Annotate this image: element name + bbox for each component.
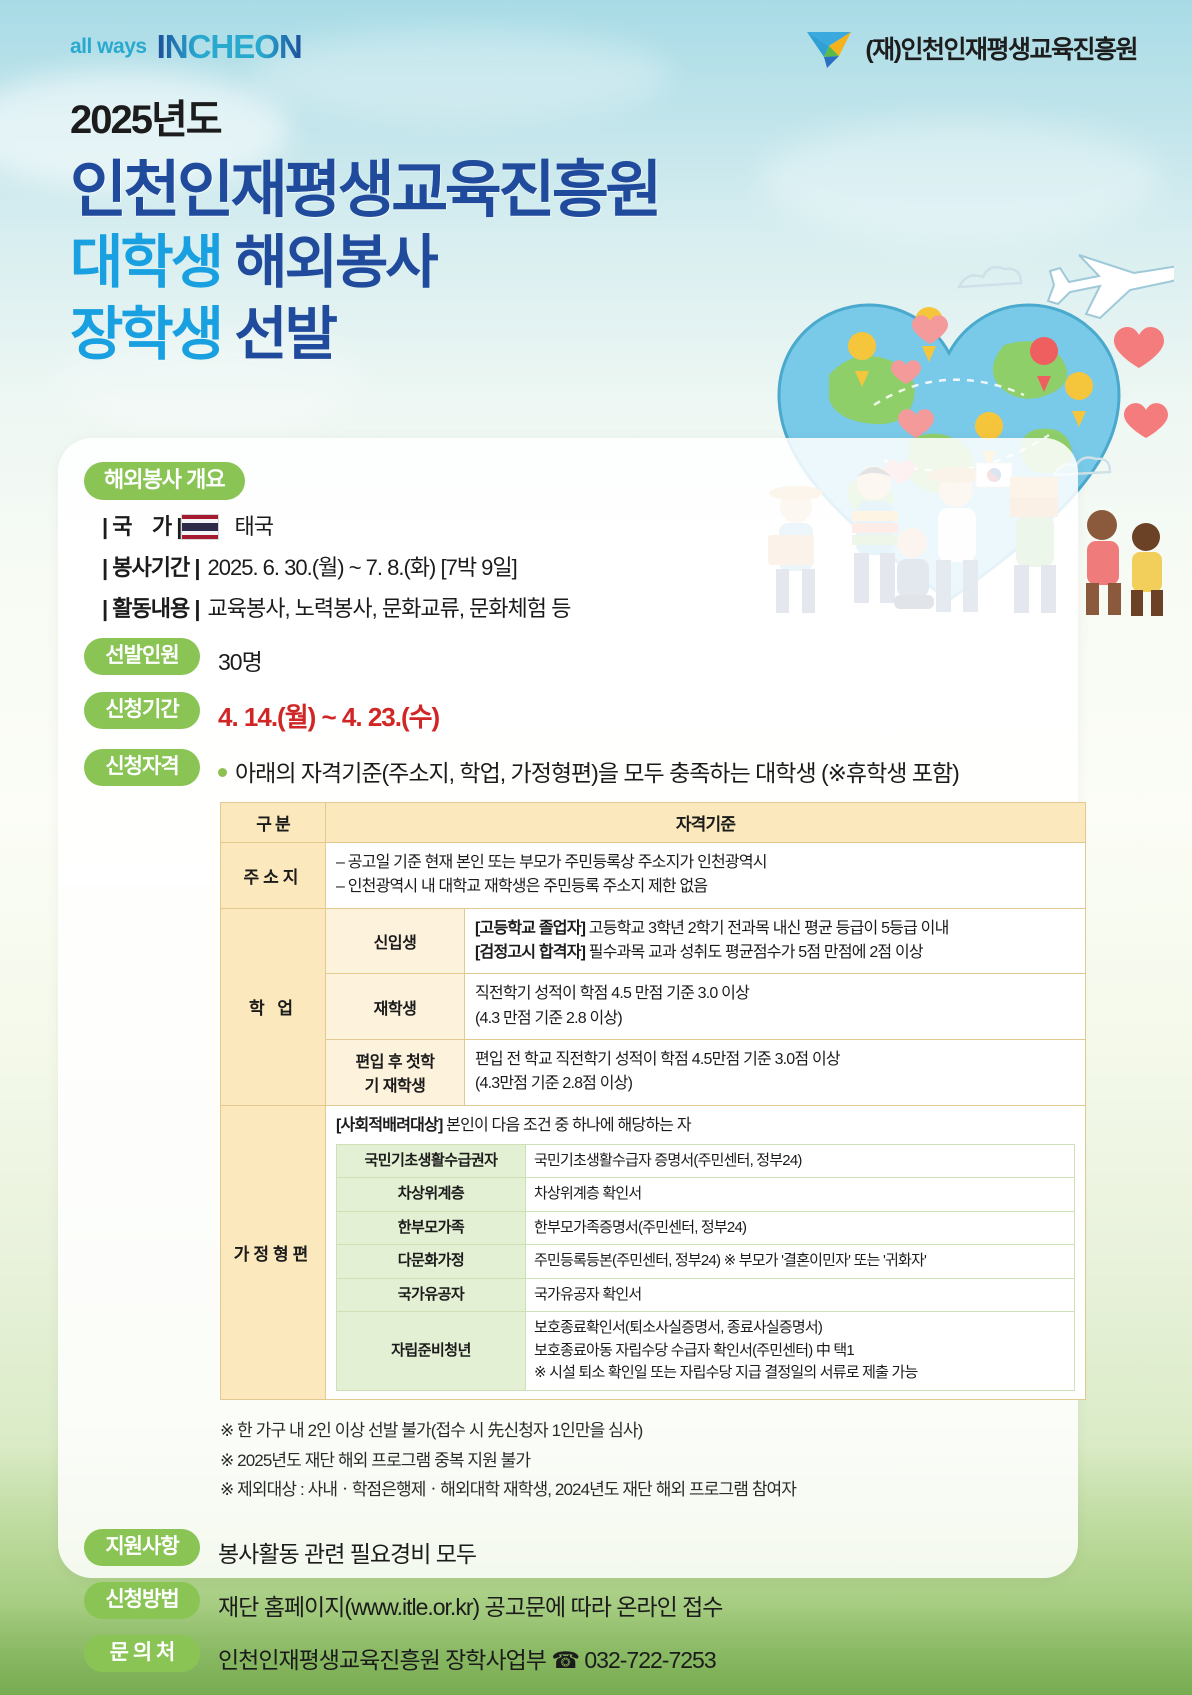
family-heading-bold: [사회적배려대상]: [336, 1117, 443, 1134]
cell-category-academics: 학 업: [221, 908, 326, 1105]
family-row-veteran: 국가유공자 국가유공자 확인서: [337, 1278, 1075, 1312]
family-subtable: 국민기초생활수급권자 국민기초생활수급자 증명서(주민센터, 정부24) 차상위…: [336, 1144, 1075, 1391]
triangle-arrow-logo-icon: [805, 26, 853, 70]
thailand-flag-icon: [181, 514, 219, 540]
overview-row-country: | 국 가 | 태국: [102, 509, 1084, 541]
table-row-academics-freshman: 학 업 신입생 [고등학교 졸업자] 고등학교 3학년 2학기 전과목 내신 평…: [221, 908, 1086, 974]
th-criteria: 자격기준: [326, 803, 1086, 843]
overview-value-period: 2025. 6. 30.(월) ~ 7. 8.(화) [7박 9일]: [208, 550, 517, 582]
cell-transfer-body: 편입 전 학교 직전학기 성적이 학점 4.5만점 기준 3.0점 이상 (4.…: [465, 1039, 1086, 1105]
cell-freshman-body: [고등학교 졸업자] 고등학교 3학년 2학기 전과목 내신 평균 등급이 5등…: [465, 908, 1086, 974]
selection-count-row: 선발인원 30명: [84, 638, 1084, 677]
qualification-table: 구 분 자격기준 주소지 – 공고일 기준 현재 본인 또는 부모가 주민등록상…: [220, 802, 1086, 1400]
overview-value-activity: 교육봉사, 노력봉사, 문화교류, 문화체험 등: [208, 591, 571, 623]
family-value-near-poverty: 차상위계층 확인서: [526, 1178, 1075, 1212]
overview-label-period: | 봉사기간 |: [102, 550, 200, 582]
apply-period-value: 4. 14.(월) ~ 4. 23.(수): [218, 692, 439, 734]
foundation-name: (재)인천인재평생교육진흥원: [865, 30, 1137, 66]
selection-count-value: 30명: [218, 638, 262, 677]
overview-value-country: 태국: [234, 509, 272, 541]
how-to-apply-row: 신청방법 재단 홈페이지(www.itle.or.kr) 공고문에 따라 온라인…: [84, 1582, 1084, 1622]
table-row-address: 주소지 – 공고일 기준 현재 본인 또는 부모가 주민등록상 주소지가 인천광…: [221, 843, 1086, 909]
cloud-decoration: [760, 120, 1160, 240]
support-pill: 지원사항: [84, 1529, 200, 1566]
cell-family-body: [사회적배려대상] 본인이 다음 조건 중 하나에 해당하는 자 국민기초생활수…: [326, 1105, 1086, 1399]
how-to-apply-value: 재단 홈페이지(www.itle.or.kr) 공고문에 따라 온라인 접수: [218, 1582, 722, 1622]
th-category: 구 분: [221, 803, 326, 843]
family-value-independent-youth: 보호종료확인서(퇴소사실증명서, 종료사실증명서) 보호종료아동 자립수당 수급…: [526, 1312, 1075, 1391]
family-label-veteran: 국가유공자: [337, 1278, 526, 1312]
cell-sub-freshman: 신입생: [326, 908, 465, 974]
note-1: ※ 한 가구 내 2인 이상 선발 불가(접수 시 先신청자 1인만을 심사): [220, 1416, 1084, 1446]
family-label-single-parent: 한부모가족: [337, 1211, 526, 1245]
family-value-single-parent: 한부모가족증명서(주민센터, 정부24): [526, 1211, 1075, 1245]
family-value-basic-living: 국민기초생활수급자 증명서(주민센터, 정부24): [526, 1144, 1075, 1178]
title-main-line3: 장학생 선발: [70, 301, 659, 369]
support-value: 봉사활동 관련 필요경비 모두: [218, 1529, 476, 1569]
how-to-apply-pill: 신청방법: [84, 1582, 200, 1619]
overview-section: 해외봉사 개요 | 국 가 | 태국 | 봉사기간 | 2025. 6. 30.…: [84, 462, 1084, 623]
family-label-independent-youth: 자립준비청년: [337, 1312, 526, 1391]
overview-row-activity: | 활동내용 | 교육봉사, 노력봉사, 문화교류, 문화체험 등: [102, 591, 1084, 623]
family-label-multicultural: 다문화가정: [337, 1245, 526, 1279]
eligibility-intro: 아래의 자격기준(주소지, 학업, 가정형편)을 모두 충족하는 대학생 (※휴…: [235, 760, 959, 786]
address-line-1: – 공고일 기준 현재 본인 또는 부모가 주민등록상 주소지가 인천광역시: [336, 851, 1075, 875]
footer-section: 지원사항 봉사활동 관련 필요경비 모두 신청방법 재단 홈페이지(www.it…: [84, 1529, 1084, 1675]
freshman-line-2-rest: 필수과목 교과 성취도 평균점수가 5점 만점에 2점 이상: [585, 944, 923, 961]
family-row-near-poverty: 차상위계층 차상위계층 확인서: [337, 1178, 1075, 1212]
family-heading-rest: 본인이 다음 조건 중 하나에 해당하는 자: [443, 1117, 691, 1134]
title-line2-light: 대학생: [70, 230, 221, 295]
transfer-line-1: 편입 전 학교 직전학기 성적이 학점 4.5만점 기준 3.0점 이상: [475, 1048, 1075, 1072]
eligibility-pill: 신청자격: [84, 749, 200, 786]
note-3: ※ 제외대상 : 사내ㆍ학점은행제ㆍ해외대학 재학생, 2024년도 재단 해외…: [220, 1475, 1084, 1505]
cell-enrolled-body: 직전학기 성적이 학점 4.5 만점 기준 3.0 이상 (4.3 만점 기준 …: [465, 974, 1086, 1040]
apply-period-pill: 신청기간: [84, 692, 200, 729]
title-main-line2: 대학생 해외봉사: [70, 229, 659, 297]
poster-title: 2025년도 인천인재평생교육진흥원 대학생 해외봉사 장학생 선발: [70, 100, 659, 370]
contact-pill: 문 의 처: [84, 1635, 200, 1672]
cell-sub-enrolled: 재학생: [326, 974, 465, 1040]
title-line3-light: 장학생: [70, 302, 221, 367]
title-line2-dark: 해외봉사: [234, 230, 435, 295]
contact-row: 문 의 처 인천인재평생교육진흥원 장학사업부 ☎ 032-722-7253: [84, 1635, 1084, 1675]
contact-value: 인천인재평생교육진흥원 장학사업부 ☎ 032-722-7253: [218, 1635, 716, 1675]
freshman-line-1-bold: [고등학교 졸업자]: [475, 920, 585, 937]
note-2: ※ 2025년도 재단 해외 프로그램 중복 지원 불가: [220, 1446, 1084, 1476]
logo-wordmark: INCHEON: [157, 28, 302, 66]
family-row-multicultural: 다문화가정 주민등록등본(주민센터, 정부24) ※ 부모가 '결혼이민자' 또…: [337, 1245, 1075, 1279]
cell-address-body: – 공고일 기준 현재 본인 또는 부모가 주민등록상 주소지가 인천광역시 –…: [326, 843, 1086, 909]
transfer-line-2: (4.3만점 기준 2.8점 이상): [475, 1072, 1075, 1096]
incheon-city-logo: all ways INCHEON: [70, 28, 302, 66]
family-row-single-parent: 한부모가족 한부모가족증명서(주민센터, 정부24): [337, 1211, 1075, 1245]
title-year: 2025년도: [70, 100, 659, 140]
table-row-family: 가정형편 [사회적배려대상] 본인이 다음 조건 중 하나에 해당하는 자 국민…: [221, 1105, 1086, 1399]
family-heading: [사회적배려대상] 본인이 다음 조건 중 하나에 해당하는 자: [336, 1114, 1075, 1138]
enrolled-line-1: 직전학기 성적이 학점 4.5 만점 기준 3.0 이상: [475, 982, 1075, 1006]
cell-category-family: 가정형편: [221, 1105, 326, 1399]
family-value-multicultural: 주민등록등본(주민센터, 정부24) ※ 부모가 '결혼이민자' 또는 '귀화자…: [526, 1245, 1075, 1279]
bullet-icon: [218, 768, 227, 777]
address-line-2: – 인천광역시 내 대학교 재학생은 주민등록 주소지 제한 없음: [336, 875, 1075, 899]
freshman-line-2: [검정고시 합격자] 필수과목 교과 성취도 평균점수가 5점 만점에 2점 이…: [475, 941, 1075, 965]
poster-content: 해외봉사 개요 | 국 가 | 태국 | 봉사기간 | 2025. 6. 30.…: [84, 462, 1084, 1675]
overview-label-activity: | 활동내용 |: [102, 591, 200, 623]
family-row-basic-living: 국민기초생활수급권자 국민기초생활수급자 증명서(주민센터, 정부24): [337, 1144, 1075, 1178]
family-row-independent-youth: 자립준비청년 보호종료확인서(퇴소사실증명서, 종료사실증명서) 보호종료아동 …: [337, 1312, 1075, 1391]
table-header-row: 구 분 자격기준: [221, 803, 1086, 843]
title-organization: 인천인재평생교육진흥원: [70, 158, 659, 225]
poster-header: all ways INCHEON (재)인천인재평생교육진흥원: [0, 0, 1192, 90]
freshman-line-1: [고등학교 졸업자] 고등학교 3학년 2학기 전과목 내신 평균 등급이 5등…: [475, 917, 1075, 941]
cell-sub-transfer: 편입 후 첫학 기 재학생: [326, 1039, 465, 1105]
overview-row-period: | 봉사기간 | 2025. 6. 30.(월) ~ 7. 8.(화) [7박 …: [102, 550, 1084, 582]
enrolled-line-2: (4.3 만점 기준 2.8 이상): [475, 1007, 1075, 1031]
support-row: 지원사항 봉사활동 관련 필요경비 모두: [84, 1529, 1084, 1569]
cell-category-address: 주소지: [221, 843, 326, 909]
table-row-academics-transfer: 편입 후 첫학 기 재학생 편입 전 학교 직전학기 성적이 학점 4.5만점 …: [221, 1039, 1086, 1105]
overview-pill: 해외봉사 개요: [84, 462, 245, 500]
selection-count-pill: 선발인원: [84, 638, 200, 675]
freshman-line-2-bold: [검정고시 합격자]: [475, 944, 585, 961]
freshman-line-1-rest: 고등학교 3학년 2학기 전과목 내신 평균 등급이 5등급 이내: [585, 920, 948, 937]
overview-label-country: | 국 가 |: [102, 509, 181, 541]
family-value-veteran: 국가유공자 확인서: [526, 1278, 1075, 1312]
eligibility-row: 신청자격 아래의 자격기준(주소지, 학업, 가정형편)을 모두 충족하는 대학…: [84, 749, 1084, 788]
family-label-near-poverty: 차상위계층: [337, 1178, 526, 1212]
apply-period-row: 신청기간 4. 14.(월) ~ 4. 23.(수): [84, 692, 1084, 734]
eligibility-intro-wrap: 아래의 자격기준(주소지, 학업, 가정형편)을 모두 충족하는 대학생 (※휴…: [218, 749, 959, 788]
eligibility-notes: ※ 한 가구 내 2인 이상 선발 불가(접수 시 先신청자 1인만을 심사) …: [220, 1416, 1084, 1505]
family-label-basic-living: 국민기초생활수급권자: [337, 1144, 526, 1178]
logo-tagline: all ways: [70, 35, 147, 59]
title-line3-dark: 선발: [234, 302, 335, 367]
foundation-logo: (재)인천인재평생교육진흥원: [805, 26, 1137, 70]
table-row-academics-enrolled: 재학생 직전학기 성적이 학점 4.5 만점 기준 3.0 이상 (4.3 만점…: [221, 974, 1086, 1040]
